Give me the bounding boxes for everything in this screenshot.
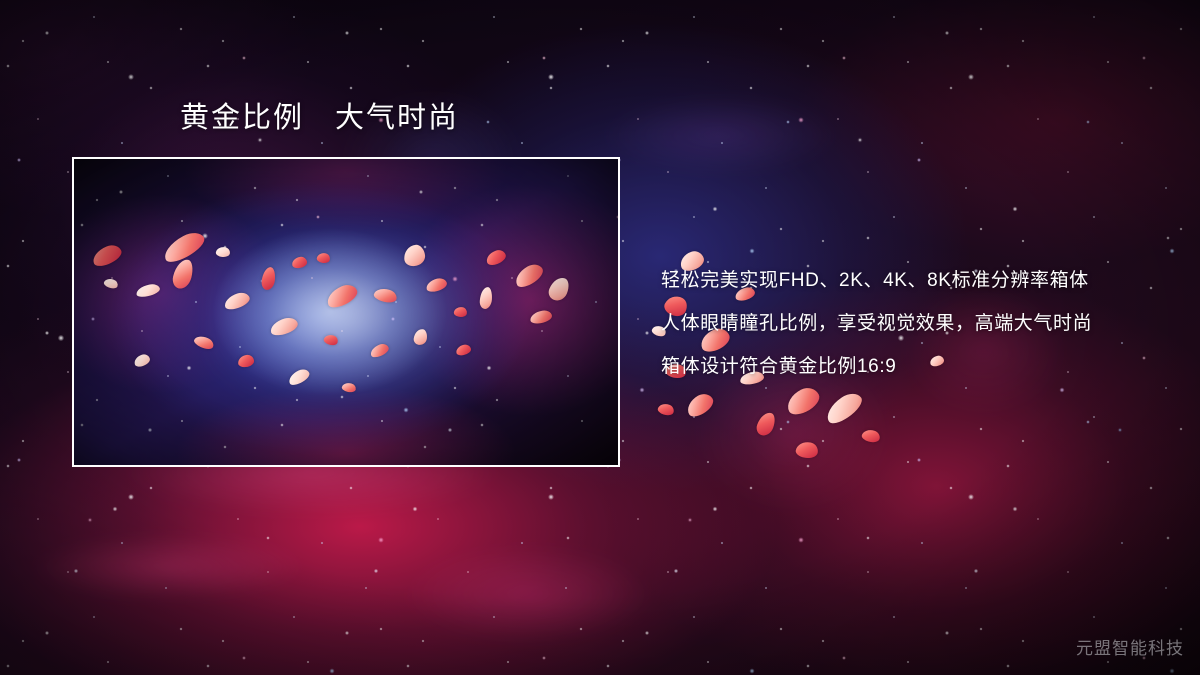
framed-image-panel	[72, 157, 620, 467]
presentation-slide: 黄金比例 大气时尚 轻松完美实现FHD、2K、4K、8K标准分辨率箱体 人体眼睛…	[0, 0, 1200, 675]
body-line: 人体眼睛瞳孔比例，享受视觉效果，高端大气时尚	[661, 302, 1161, 345]
page-title: 黄金比例 大气时尚	[180, 101, 459, 136]
watermark: 元盟智能科技	[1076, 634, 1184, 659]
panel-vignette	[74, 159, 618, 465]
body-line: 箱体设计符合黄金比例16:9	[661, 345, 1161, 388]
body-line: 轻松完美实现FHD、2K、4K、8K标准分辨率箱体	[661, 259, 1161, 302]
body-text-block: 轻松完美实现FHD、2K、4K、8K标准分辨率箱体 人体眼睛瞳孔比例，享受视觉效…	[661, 259, 1161, 388]
